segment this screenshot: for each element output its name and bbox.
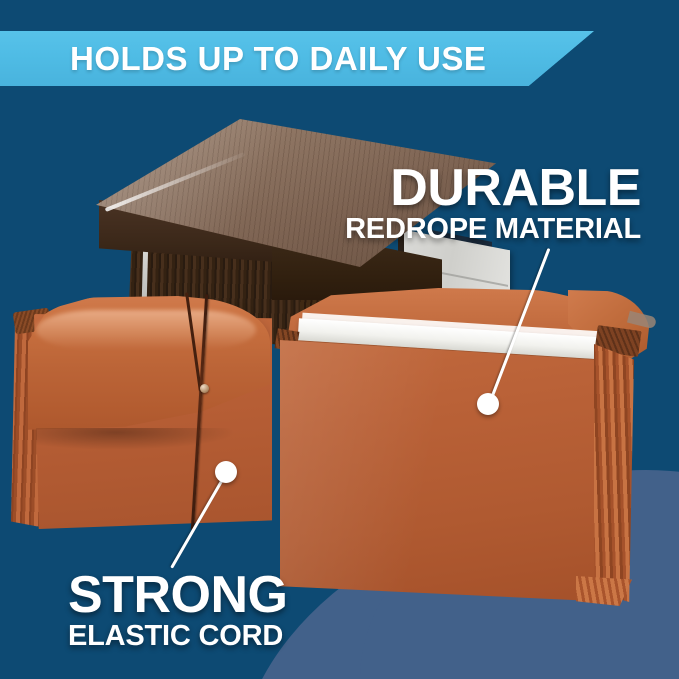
accordion-bottom-pleats bbox=[576, 576, 632, 606]
callout-subline-strong: ELASTIC CORD bbox=[68, 620, 287, 652]
callout-label-strong: STRONG ELASTIC CORD bbox=[68, 570, 287, 652]
callout-subline-durable: REDROPE MATERIAL bbox=[345, 213, 641, 245]
pocket-flap-highlight bbox=[36, 310, 256, 350]
pocket-flap-shadow bbox=[36, 428, 236, 450]
accordion-gusset-right bbox=[594, 344, 634, 602]
callout-headline-strong: STRONG bbox=[68, 570, 287, 620]
headline-banner-text: HOLDS UP TO DAILY USE bbox=[70, 31, 486, 86]
infographic-canvas: HOLDS UP TO DAILY USE DURABLE REDROPE MA… bbox=[0, 0, 679, 679]
redrope-pocket-closed bbox=[6, 296, 272, 532]
callout-headline-durable: DURABLE bbox=[345, 163, 641, 213]
callout-dot-durable bbox=[477, 393, 499, 415]
redrope-pocket-open bbox=[276, 284, 676, 624]
callout-label-durable: DURABLE REDROPE MATERIAL bbox=[345, 163, 641, 245]
cord-eyelet bbox=[200, 384, 209, 393]
callout-dot-strong bbox=[215, 461, 237, 483]
pocket-front-panel bbox=[280, 340, 616, 602]
